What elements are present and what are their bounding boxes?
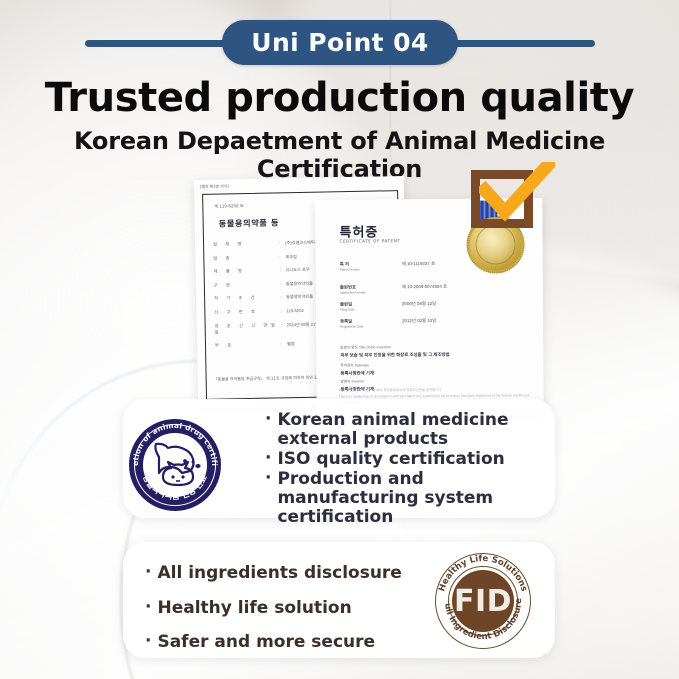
patent-row-key-sub: Filing Date	[340, 307, 402, 311]
patent-subtitle: CERTIFICATE OF PATENT	[340, 238, 401, 243]
patent-row: 등록일 Registration Date 2012년 02월 13일	[340, 318, 436, 329]
bullet-marker: ·	[265, 450, 271, 468]
patent-field: 발명의 명칭 Title of the Invention 피부 보습 및 피부…	[340, 345, 449, 359]
declaration-row-key: 최 초 신 고 연월일	[215, 322, 281, 335]
patent-row-key-main: 출원번호	[340, 285, 356, 290]
list-item: · ISO quality certification	[265, 450, 555, 469]
declaration-row-key: 적 기 조 건	[214, 295, 280, 302]
patent-row: 특 허 Patent Number 제 10-1119337 호	[340, 261, 435, 272]
list-item-label: Safer and more secure	[157, 633, 375, 652]
patent-row-key-sub: Application Number	[340, 290, 402, 294]
completion-of-animal-drug-certification-seal-icon: Completion of animal drug certification …	[129, 419, 221, 511]
fid-arc-text: Healthy Life Solutions Full Ingredient D…	[435, 553, 531, 649]
patent-row-key-sub: Registration Date	[340, 324, 402, 328]
declaration-row-key: 업 종	[213, 254, 279, 261]
patent-row-key-main: 출원일	[340, 302, 352, 307]
patent-row-value: 제 10-1119337 호	[402, 261, 435, 271]
bullet-marker: ·	[145, 599, 151, 617]
patent-field-value: 피부 보습 및 피부 진정을 위한 화장료 조성물 및 그 제조방법	[340, 352, 449, 359]
fid-bullet-list: · All ingredients disclosure · Healthy l…	[145, 564, 402, 668]
certification-card-fid: · All ingredients disclosure · Healthy l…	[123, 542, 555, 658]
patent-row-value: 제 10-2009-0074934 호	[402, 284, 447, 294]
declaration-row-key: 구 분	[214, 281, 280, 288]
dog-and-cat-icon	[129, 419, 221, 511]
fid-arc-top-text: Healthy Life Solutions	[437, 554, 528, 593]
list-item: · Production and manufacturing system ce…	[265, 470, 555, 527]
patent-field-label: 발명자 Inventor	[341, 379, 365, 383]
patent-row: 출원번호 Application Number 제 10-2009-007493…	[340, 284, 447, 295]
checkmark-box-icon	[471, 170, 543, 242]
list-item: · Safer and more secure	[145, 633, 402, 652]
declaration-form-note: [별지 제3호 서식]	[200, 183, 229, 190]
list-item-label: Production and manufacturing system cert…	[277, 470, 555, 527]
bullet-marker: ·	[265, 470, 271, 488]
animal-drug-bullet-list: · Korean animal medicine external produc…	[265, 411, 555, 528]
list-item: · Korean animal medicine external produc…	[265, 411, 555, 449]
patent-field-label: 발명의 명칭 Title of the Invention	[340, 345, 391, 349]
patent-row-key: 특 허 Patent Number	[340, 261, 402, 271]
list-item-label: Korean animal medicine external products	[277, 411, 555, 449]
list-item: · All ingredients disclosure	[145, 564, 402, 583]
declaration-row-key: 업 체 명	[213, 240, 279, 247]
patent-field-value: 등록사항란에 기재	[340, 370, 374, 376]
patent-row-key: 출원일 Filing Date	[340, 301, 402, 311]
fid-seal-icon: FID Healthy Life Solutions Full Ingredie…	[435, 553, 531, 649]
patent-row-key: 등록일 Registration Date	[340, 318, 402, 328]
patent-row-value: 2012년 02월 13일	[402, 318, 436, 328]
patent-row: 출원일 Filing Date 2009년 08월 12일	[340, 301, 436, 312]
certification-card-animal-drug: Completion of animal drug certification …	[123, 399, 555, 518]
declaration-title: 동물용의약품 등	[219, 216, 280, 229]
list-item: · Healthy life solution	[145, 599, 402, 618]
patent-row-key-main: 등록일	[340, 319, 352, 324]
list-item-label: ISO quality certification	[277, 450, 504, 469]
patent-field: 특허권자 Patentee 등록사항란에 기재	[340, 363, 374, 376]
orange-check-icon	[479, 162, 555, 224]
bullet-marker: ·	[145, 564, 151, 582]
patent-row-key-sub: Patent Number	[340, 267, 402, 271]
declaration-row-key: 신 고 번 호	[214, 308, 280, 315]
declaration-row-key: 부 호	[215, 342, 281, 349]
patent-row-key: 출원번호 Application Number	[340, 284, 402, 294]
list-item-label: All ingredients disclosure	[157, 564, 401, 583]
list-item-label: Healthy life solution	[157, 599, 351, 618]
declaration-row-key: 제 품 명	[214, 268, 280, 275]
patent-row-key-main: 특 허	[340, 262, 349, 267]
bullet-marker: ·	[265, 411, 271, 429]
slide-root: Uni Point 04 Trusted production quality …	[0, 0, 679, 679]
declaration-doc-number: 제 119-6202 호	[214, 203, 243, 210]
patent-field-label: 특허권자 Patentee	[340, 363, 369, 367]
patent-row-value: 2009년 08월 12일	[402, 301, 436, 311]
bullet-marker: ·	[145, 633, 151, 651]
